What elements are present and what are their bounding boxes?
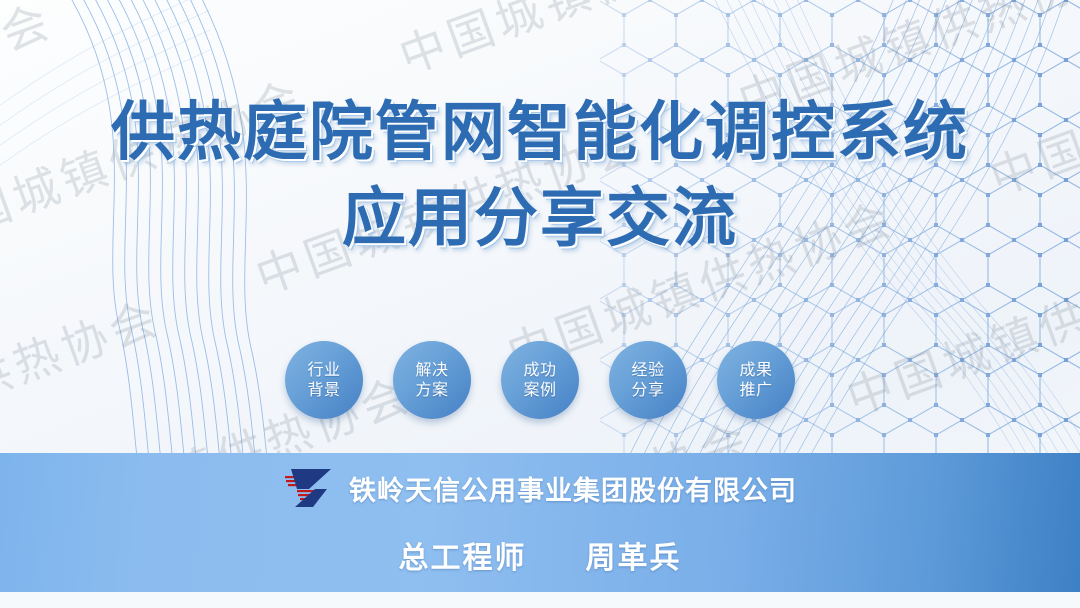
badge-line-2: 推广	[739, 380, 772, 400]
badge-line-2: 分享	[631, 380, 664, 400]
presenter-name: 周革兵	[585, 541, 681, 576]
agenda-badge-industry-background[interactable]: 行业 背景	[285, 341, 363, 419]
footer-bar: 铁岭天信公用事业集团股份有限公司 总工程师 周革兵	[0, 453, 1080, 592]
title-line-1: 供热庭院管网智能化调控系统	[0, 96, 1080, 172]
watermark-text: 中国城镇供热协会	[141, 0, 543, 8]
agenda-badge-experience-sharing[interactable]: 经验 分享	[609, 341, 687, 419]
presenter-title: 总工程师	[399, 541, 527, 576]
agenda-badge-result-promotion[interactable]: 成果 推广	[717, 341, 795, 419]
badge-line-1: 成功	[523, 360, 556, 380]
agenda-badge-success-case[interactable]: 成功 案例	[501, 341, 579, 419]
badge-line-1: 行业	[307, 360, 340, 380]
watermark-text: 中国城镇供热协会	[392, 0, 794, 84]
slide-title: 供热庭院管网智能化调控系统 应用分享交流	[0, 96, 1080, 257]
agenda-badge-list: 行业 背景 解决 方案 成功 案例 经验 分享 成果 推广	[0, 341, 1080, 419]
agenda-badge-solution[interactable]: 解决 方案	[393, 341, 471, 419]
presentation-slide: 中国城镇供热协会 中国城镇供热协会 中国城镇供热协会 中国城镇供热协会 中国城镇…	[0, 0, 1080, 608]
title-line-2: 应用分享交流	[0, 182, 1080, 258]
badge-line-1: 成果	[739, 360, 772, 380]
badge-line-2: 方案	[415, 380, 448, 400]
tianxin-company-logo-icon	[283, 467, 335, 509]
footer-bottom-strip	[0, 592, 1080, 608]
company-name: 铁岭天信公用事业集团股份有限公司	[349, 469, 797, 508]
presenter-line: 总工程师 周革兵	[0, 533, 1080, 577]
badge-line-2: 案例	[523, 380, 556, 400]
badge-line-2: 背景	[307, 380, 340, 400]
badge-line-1: 经验	[631, 360, 664, 380]
company-row: 铁岭天信公用事业集团股份有限公司	[0, 467, 1080, 509]
badge-line-1: 解决	[415, 360, 448, 380]
